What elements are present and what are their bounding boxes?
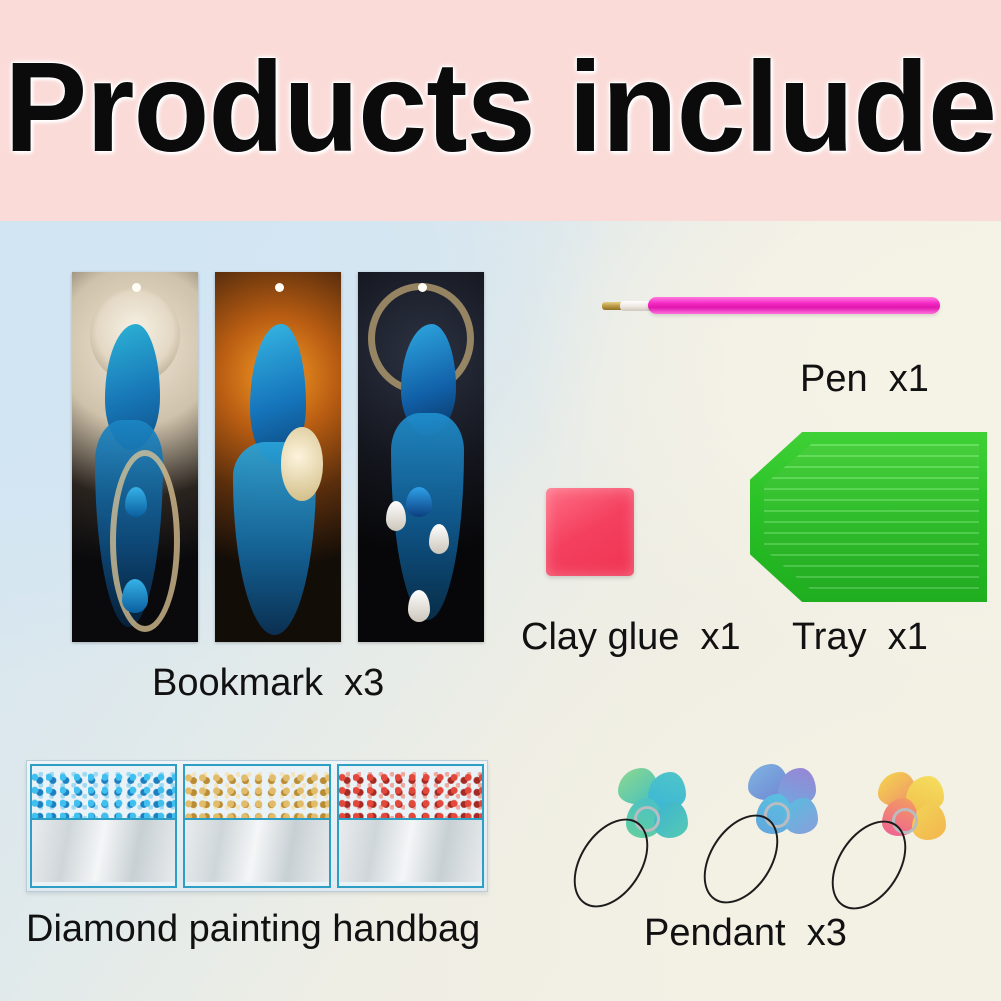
- tray-inner-surface: [764, 444, 979, 590]
- pendant-image-1: [570, 762, 690, 912]
- pen-image: [600, 293, 940, 323]
- clay-glue-label: Clay glue x1: [521, 616, 741, 659]
- pendant-image-3: [830, 766, 950, 916]
- pearl-speck: [275, 283, 284, 292]
- pouch-red: [337, 764, 484, 888]
- foil-label: [339, 818, 482, 882]
- tray-label: Tray x1: [792, 616, 928, 659]
- clay-glue-image: [546, 488, 634, 576]
- pendant-label: Pendant x3: [644, 912, 847, 955]
- pearl-teardrop: [429, 524, 449, 554]
- foil-label: [32, 818, 175, 882]
- handbag-label: Diamond painting handbag: [26, 908, 480, 951]
- gem-fill-gold: [185, 772, 328, 824]
- gem-cluster: [281, 427, 324, 501]
- pouch-blue: [30, 764, 177, 888]
- pendant-image-2: [700, 758, 820, 908]
- handbag-image: [26, 760, 488, 892]
- bookmark-image-1: [72, 272, 198, 642]
- pen-body: [648, 297, 940, 314]
- page-title: Products include: [5, 44, 997, 178]
- gem-blue-center: [406, 487, 432, 517]
- bookmark-group: [72, 272, 484, 642]
- bookmark-image-2: [215, 272, 341, 642]
- pen-label: Pen x1: [800, 358, 929, 401]
- foil-label: [185, 818, 328, 882]
- product-include-infographic: Products include: [0, 0, 1001, 1001]
- pearl-teardrop: [386, 501, 406, 531]
- gem-fill-blue: [32, 772, 175, 824]
- bookmark-label: Bookmark x3: [152, 662, 384, 705]
- header-band: Products include: [0, 0, 1001, 221]
- gem-fill-red: [339, 772, 482, 824]
- pouch-gold: [183, 764, 330, 888]
- bookmark-image-3: [358, 272, 484, 642]
